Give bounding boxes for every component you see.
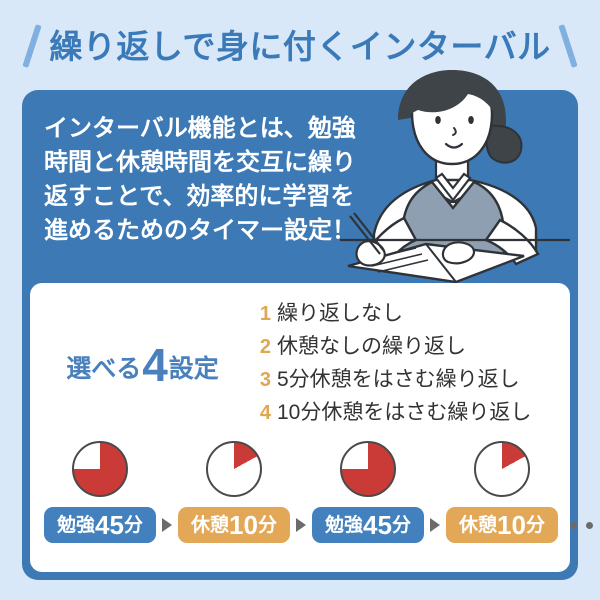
timeline-badge-study[interactable]: 勉強45分 [312,507,424,543]
intro-line: 時間と休憩時間を交互に繰り [44,146,374,180]
badge-label: 勉強 [325,516,363,535]
badge-unit: 分 [526,516,545,535]
settings-heading: 選べる4設定 [30,342,255,388]
badge-label: 休憩 [191,516,229,535]
settings-heading-prefix: 選べる [66,355,141,383]
intro-line: 進めるためのタイマー設定！ [44,214,374,248]
arrow-right-icon [290,507,312,543]
title-left-slash-icon [23,24,42,68]
badge-unit: 分 [124,516,143,535]
list-item[interactable]: 4 10分休憩をはさむ繰り返し [257,396,570,429]
dot-icon [570,522,577,529]
option-label: 繰り返しなし [277,297,403,327]
timeline-continuation-dots [570,507,600,543]
timeline-step: 休憩10分 [446,441,558,543]
badge-number: 45 [363,512,392,538]
option-label: 休憩なしの繰り返し [277,330,466,360]
main-card: インターバル機能とは、勉強 時間と休憩時間を交互に繰り 返すことで、効率的に学習… [22,90,578,580]
option-label: 5分休憩をはさむ繰り返し [277,363,520,393]
settings-heading-number: 4 [142,339,168,391]
option-number: 4 [257,402,271,425]
intro-text: インターバル機能とは、勉強 時間と休憩時間を交互に繰り 返すことで、効率的に学習… [44,112,374,248]
badge-number: 10 [229,512,258,538]
timeline-step: 勉強45分 [312,441,424,543]
arrow-right-icon [424,507,446,543]
pie-chart-icon [72,441,128,497]
pie-chart-icon [474,441,530,497]
interval-timeline: 勉強45分 休憩10分 勉強45分 [30,441,570,566]
timeline-row: 勉強45分 休憩10分 勉強45分 [44,441,556,543]
badge-number: 45 [95,512,124,538]
timeline-step: 休憩10分 [178,441,290,543]
option-number: 1 [257,303,271,326]
timeline-step: 勉強45分 [44,441,156,543]
option-number: 2 [257,336,271,359]
intro-line: 返すことで、効率的に学習を [44,180,374,214]
badge-number: 10 [497,512,526,538]
intro-section: インターバル機能とは、勉強 時間と休憩時間を交互に繰り 返すことで、効率的に学習… [22,90,578,283]
badge-label: 勉強 [57,516,95,535]
page-title: 繰り返しで身に付くインターバル [0,18,600,74]
settings-heading-suffix: 設定 [169,355,219,383]
arrow-right-icon [156,507,178,543]
list-item[interactable]: 2 休憩なしの繰り返し [257,330,570,363]
infographic-canvas: 繰り返しで身に付くインターバル インターバル機能とは、勉強 時間と休憩時間を交互… [0,0,600,600]
option-label: 10分休憩をはさむ繰り返し [277,396,531,426]
timeline-badge-rest[interactable]: 休憩10分 [446,507,558,543]
title-right-slash-icon [558,24,577,68]
list-item[interactable]: 1 繰り返しなし [257,297,570,330]
page-title-text: 繰り返しで身に付くインターバル [49,30,550,63]
badge-label: 休憩 [459,516,497,535]
settings-option-list: 1 繰り返しなし 2 休憩なしの繰り返し 3 5分休憩をはさむ繰り返し 4 10… [255,297,570,429]
timeline-badge-study[interactable]: 勉強45分 [44,507,156,543]
timeline-badge-rest[interactable]: 休憩10分 [178,507,290,543]
pie-chart-icon [206,441,262,497]
settings-panel: 選べる4設定 1 繰り返しなし 2 休憩なしの繰り返し 3 5分休憩をはさむ繰り… [30,283,570,572]
pie-chart-icon [340,441,396,497]
dot-icon [586,522,593,529]
student-writing-illustration [340,68,570,283]
badge-unit: 分 [392,516,411,535]
settings-section: 選べる4設定 1 繰り返しなし 2 休憩なしの繰り返し 3 5分休憩をはさむ繰り… [30,283,570,443]
list-item[interactable]: 3 5分休憩をはさむ繰り返し [257,363,570,396]
intro-line: インターバル機能とは、勉強 [44,112,374,146]
option-number: 3 [257,369,271,392]
badge-unit: 分 [258,516,277,535]
